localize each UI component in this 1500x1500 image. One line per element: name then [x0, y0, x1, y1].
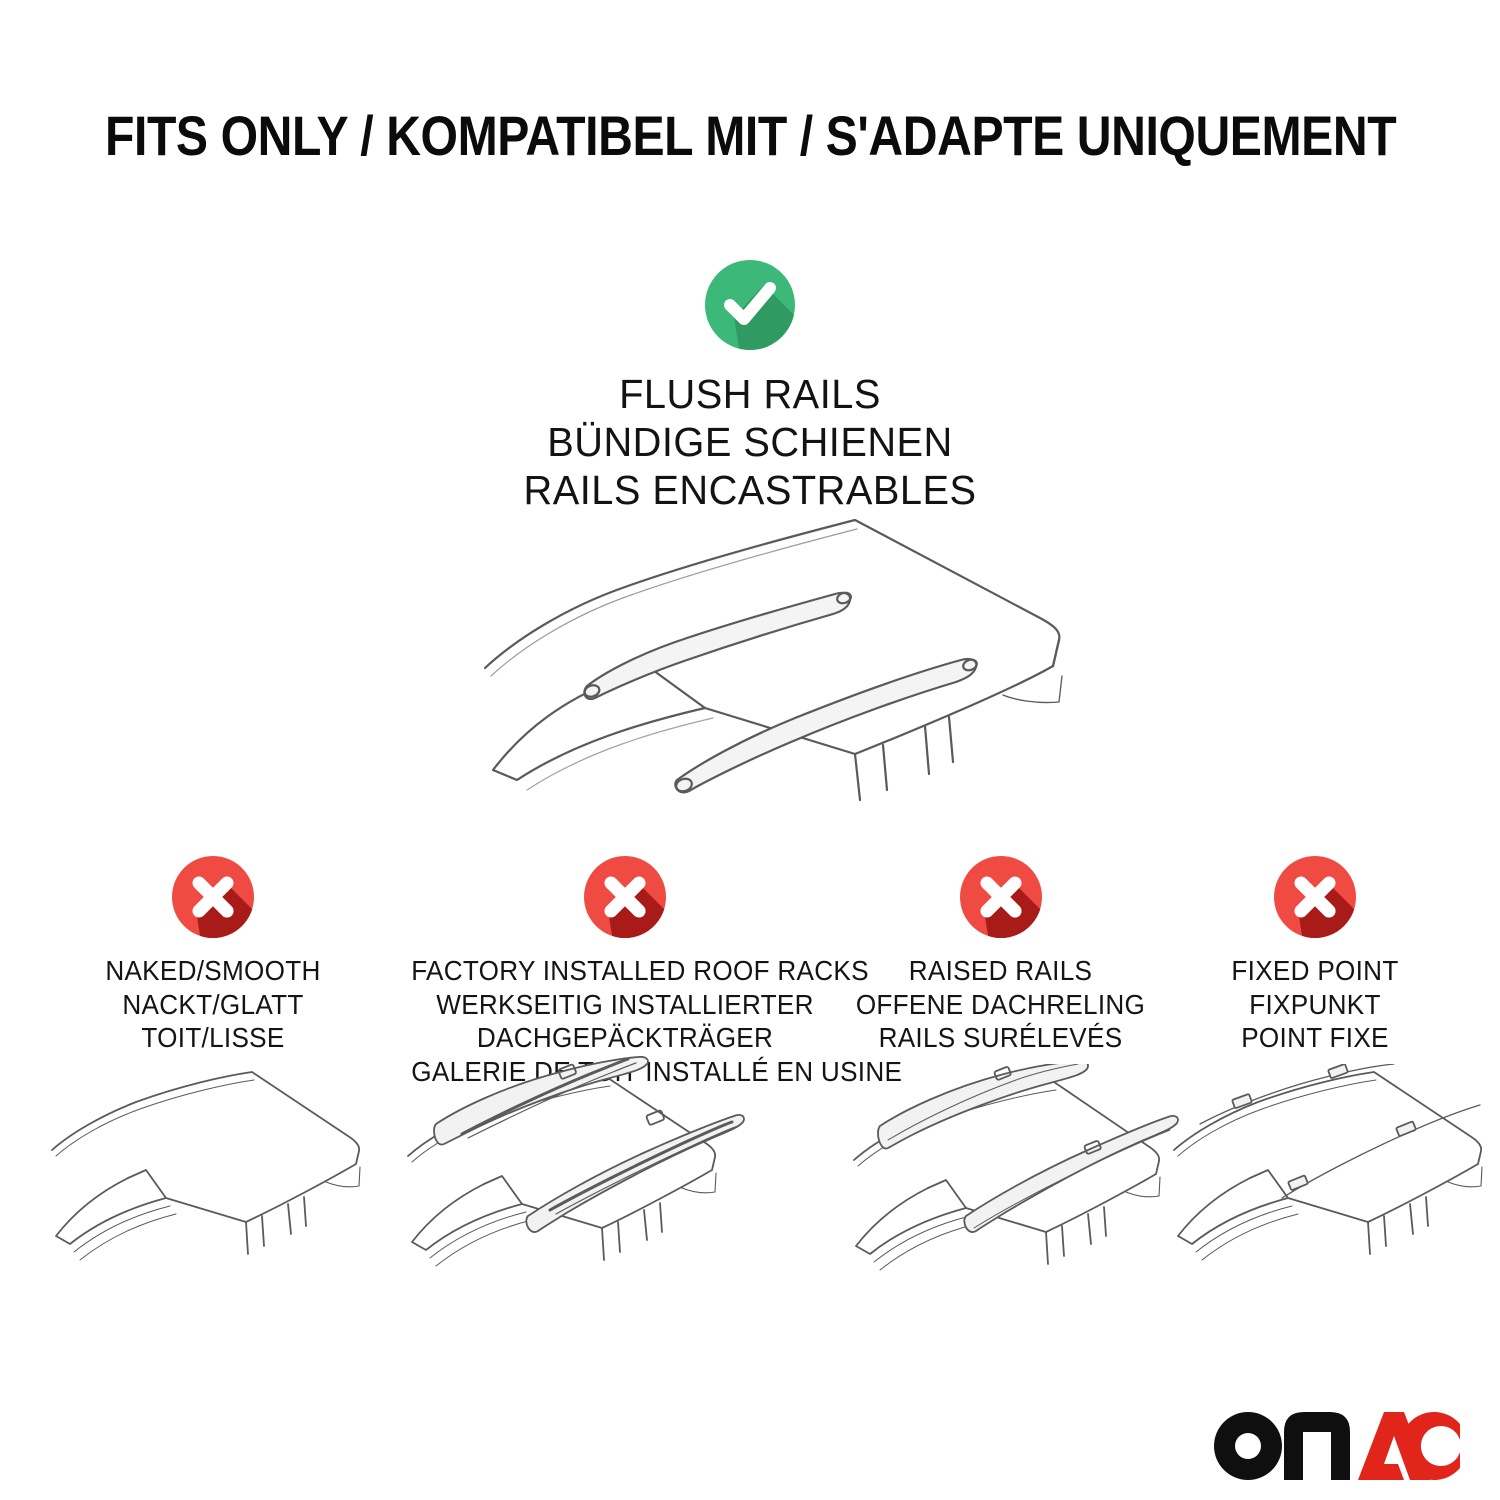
label-line-2: NACKT/GLATT [56, 988, 370, 1022]
incompatible-label-fixed-point: FIXED POINT FIXPUNKT POINT FIXE [1177, 954, 1453, 1055]
label-line-2: WERKSEITIG INSTALLIERTER [411, 988, 839, 1022]
car-roof-factory-racks-illustration [400, 1056, 850, 1296]
label-line-1: FACTORY INSTALLED ROOF RACKS [411, 954, 839, 988]
car-roof-raised-rails-illustration [848, 1064, 1153, 1299]
label-line-3: RAILS SURÉLEVÉS [856, 1021, 1146, 1055]
label-line-3: DACHGEPÄCKTRÄGER [411, 1021, 839, 1055]
label-line-1: RAISED RAILS [856, 954, 1146, 988]
incompatible-label-raised-rails: RAISED RAILS OFFENE DACHRELING RAILS SUR… [856, 954, 1146, 1055]
label-line-2: OFFENE DACHRELING [856, 988, 1146, 1022]
x-circle-icon [580, 852, 670, 942]
incompatible-item-raised-rails: RAISED RAILS OFFENE DACHRELING RAILS SUR… [848, 852, 1153, 1055]
incompatible-section: NAKED/SMOOTH NACKT/GLATT TOIT/LISSE [0, 852, 1500, 1492]
incompatible-label-naked-smooth: NAKED/SMOOTH NACKT/GLATT TOIT/LISSE [56, 954, 370, 1055]
check-circle-icon [700, 255, 800, 355]
page-title: FITS ONLY / KOMPATIBEL MIT / S'ADAPTE UN… [105, 103, 1395, 168]
label-line-2: FIXPUNKT [1177, 988, 1453, 1022]
x-circle-icon [1270, 852, 1360, 942]
label-line-3: TOIT/LISSE [56, 1021, 370, 1055]
x-circle-icon [956, 852, 1046, 942]
label-line-1: FIXED POINT [1177, 954, 1453, 988]
compatible-label-line-2: BÜNDIGE SCHIENEN [386, 419, 1114, 467]
label-line-3: POINT FIXE [1177, 1021, 1453, 1055]
omac-logo [1212, 1410, 1462, 1482]
incompatible-item-naked-smooth: NAKED/SMOOTH NACKT/GLATT TOIT/LISSE [48, 852, 378, 1055]
compatible-label-line-1: FLUSH RAILS [386, 371, 1114, 419]
car-roof-naked-illustration [48, 1064, 378, 1294]
incompatible-item-factory-racks: FACTORY INSTALLED ROOF RACKS WERKSEITIG … [400, 852, 850, 1088]
car-roof-fixed-point-illustration [1170, 1064, 1460, 1294]
compatible-section: FLUSH RAILS BÜNDIGE SCHIENEN RAILS ENCAS… [375, 255, 1125, 515]
car-roof-flush-rails-illustration [455, 490, 1075, 820]
x-circle-icon [168, 852, 258, 942]
label-line-1: NAKED/SMOOTH [56, 954, 370, 988]
incompatible-item-fixed-point: FIXED POINT FIXPUNKT POINT FIXE [1170, 852, 1460, 1055]
